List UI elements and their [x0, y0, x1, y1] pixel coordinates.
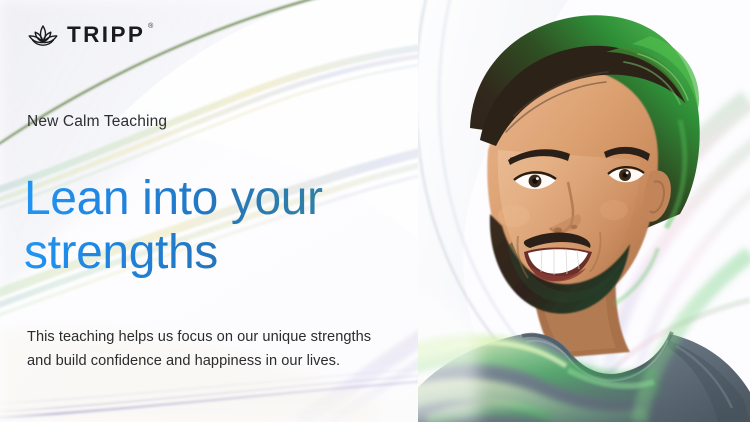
lotus-flower-icon: [26, 22, 60, 48]
headline-line-2: strengths: [24, 226, 444, 280]
tripp-logo[interactable]: TRIPP ®: [26, 22, 145, 48]
teaching-description: This teaching helps us focus on our uniq…: [27, 326, 457, 373]
wordmark-text: TRIPP: [67, 22, 145, 47]
hero-banner: TRIPP ® New Calm Teaching Lean into your…: [0, 0, 750, 422]
teaching-category-label: New Calm Teaching: [27, 113, 167, 131]
description-line-2: and build confidence and happiness in ou…: [27, 350, 457, 374]
trademark-symbol: ®: [148, 23, 153, 30]
hero-photo: [418, 0, 750, 422]
tripp-wordmark: TRIPP ®: [67, 24, 145, 47]
page-title: Lean into your strengths: [24, 172, 444, 280]
headline-line-1: Lean into your: [24, 172, 444, 226]
description-line-1: This teaching helps us focus on our uniq…: [27, 326, 457, 350]
portrait-illustration: [418, 0, 750, 422]
